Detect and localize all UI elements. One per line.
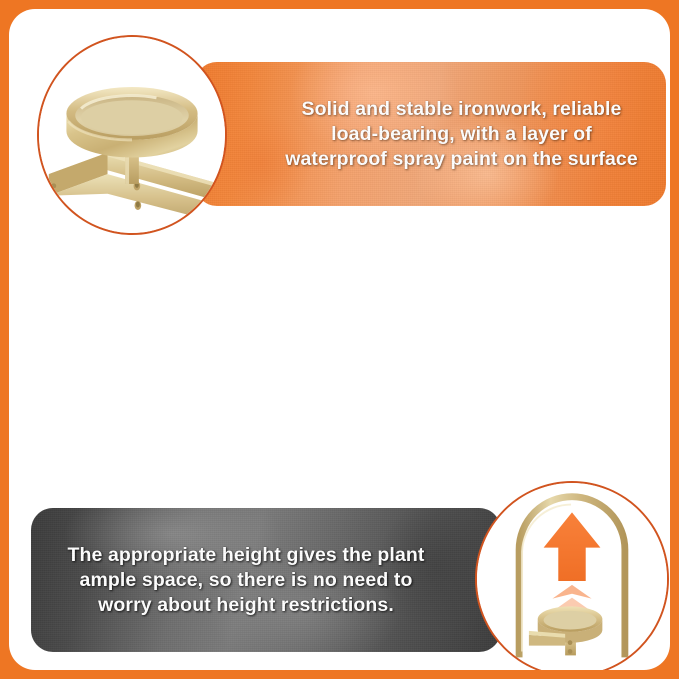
product-photo-round-tray (37, 35, 227, 235)
infographic-poster: Solid and stable ironwork, reliable load… (0, 0, 679, 679)
feature-panel-1: Solid and stable ironwork, reliable load… (9, 9, 670, 238)
round-gold-tray-illustration (39, 37, 225, 233)
feature-text-band-1: Solid and stable ironwork, reliable load… (195, 62, 666, 206)
gold-tray (66, 87, 197, 157)
feature-panel-3: Elegant window-shaped design, the exquis… (9, 458, 670, 670)
feature-text-1: Solid and stable ironwork, reliable load… (223, 97, 638, 172)
feature-panel-2: The appropriate height gives the plant a… (9, 238, 670, 458)
poster-inner-surface: Solid and stable ironwork, reliable load… (9, 9, 670, 670)
